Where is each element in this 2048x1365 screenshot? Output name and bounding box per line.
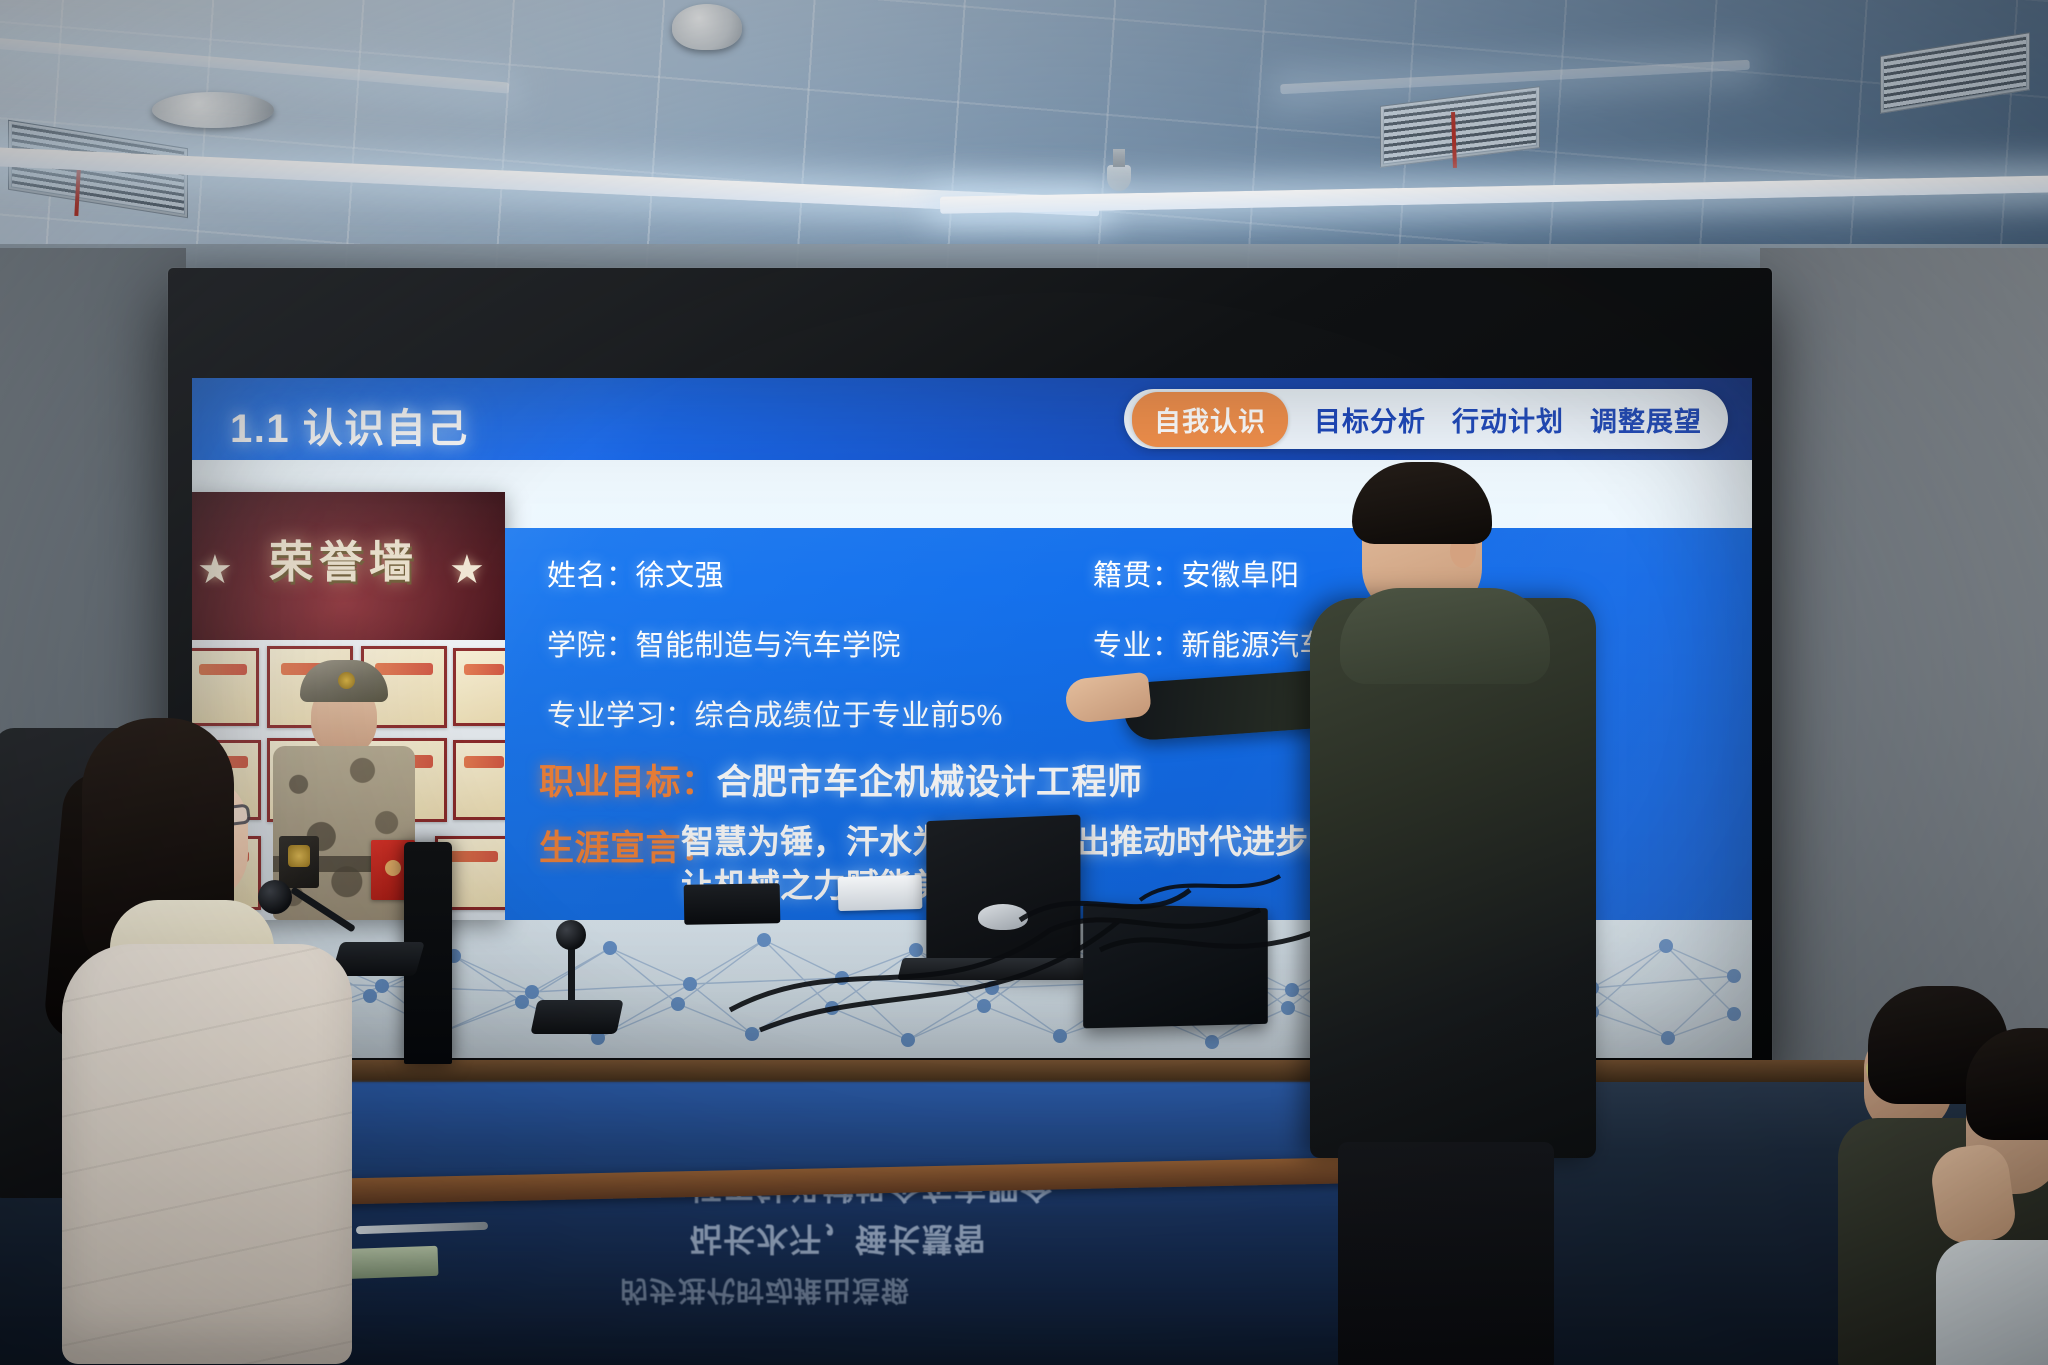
smoke-detector-icon xyxy=(672,4,742,50)
microphone-base xyxy=(530,1000,623,1034)
honor-wall-banner: ★ ★ 荣誉墙 xyxy=(192,492,505,640)
attendee-left xyxy=(40,718,340,1365)
honor-wall-title: 荣誉墙 xyxy=(192,526,505,590)
tab-self-awareness[interactable]: 自我认识 xyxy=(1132,392,1288,447)
microphone-head-icon xyxy=(556,920,586,950)
tab-goal-analysis[interactable]: 目标分析 xyxy=(1314,400,1426,439)
microphone-stem xyxy=(568,946,575,1004)
smoke-detector-icon xyxy=(152,92,274,128)
tab-adjust-outlook[interactable]: 调整展望 xyxy=(1590,400,1702,439)
career-goal-row: 职业目标：合肥市车企机械设计工程师 xyxy=(539,754,1143,805)
attendee-right-2 xyxy=(1960,1028,2048,1365)
reflection-text-line-3: 的步进代时动推出造锻 xyxy=(620,1272,910,1312)
info-name: 姓名：徐文强 xyxy=(547,552,724,594)
reflection-text-line-2: 砧长水汗，锤长慧智 xyxy=(690,1218,987,1264)
certificate xyxy=(453,740,505,820)
presenter-hair xyxy=(1352,462,1492,544)
career-goal-label: 职业目标： xyxy=(539,763,717,802)
jacket-hood xyxy=(1340,588,1550,684)
info-hometown: 籍贯：安徽阜阳 xyxy=(1093,552,1300,594)
presenter-legs xyxy=(1338,1142,1554,1365)
presenter-hand xyxy=(1064,672,1152,725)
page-title: 1.1 认识自己 xyxy=(230,396,469,454)
tab-action-plan[interactable]: 行动计划 xyxy=(1452,400,1564,439)
sprinkler-head-icon xyxy=(1107,165,1131,191)
puffer-jacket xyxy=(62,944,352,1364)
slide-header: 1.1 认识自己 自我认识 目标分析 行动计划 调整展望 xyxy=(192,378,1752,460)
info-college: 学院：智能制造与汽车学院 xyxy=(547,622,901,664)
screenshot-scene: 1.1 认识自己 自我认识 目标分析 行动计划 调整展望 ★ ★ 荣誉墙 xyxy=(0,0,2048,1365)
certificate xyxy=(453,648,505,726)
info-study-performance: 专业学习：综合成绩位于专业前5% xyxy=(547,692,1003,734)
cable-bundle xyxy=(720,860,1340,1040)
certificate xyxy=(192,648,259,726)
career-goal-value: 合肥市车企机械设计工程师 xyxy=(717,763,1143,802)
presenter xyxy=(1300,470,1600,1365)
military-cap-icon xyxy=(300,660,388,702)
hair xyxy=(1966,1028,2048,1140)
attendee-jacket xyxy=(1936,1240,2048,1365)
slide-nav: 自我认识 目标分析 行动计划 调整展望 xyxy=(1124,389,1728,449)
